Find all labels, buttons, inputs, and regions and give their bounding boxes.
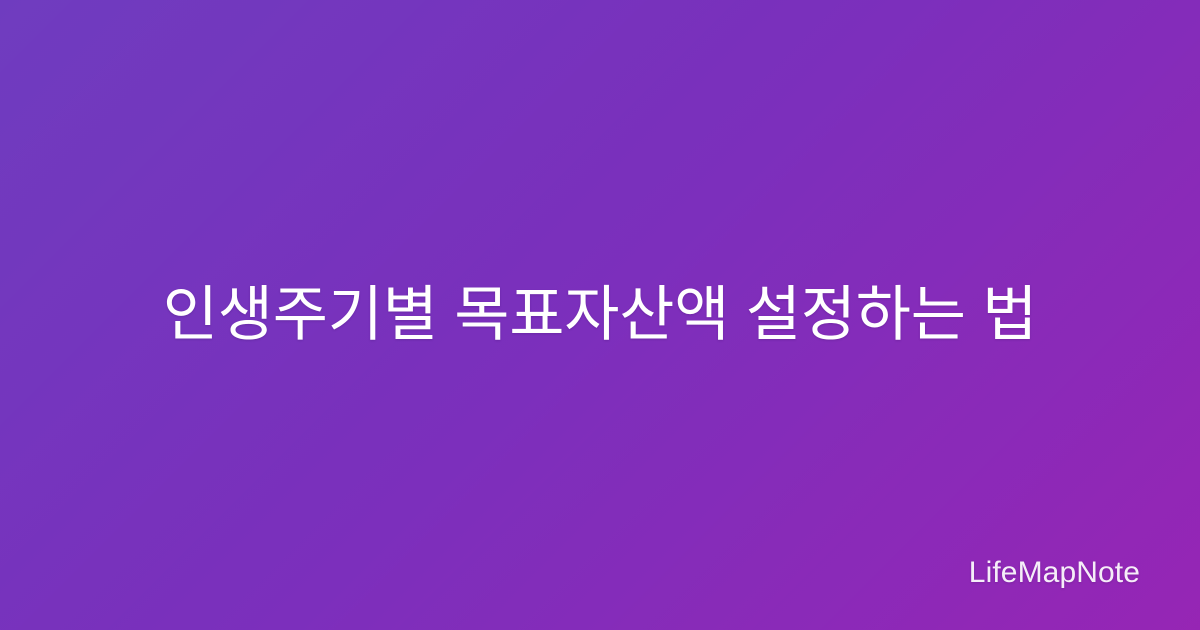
page-title: 인생주기별 목표자산액 설정하는 법 <box>0 275 1200 354</box>
og-card: 인생주기별 목표자산액 설정하는 법 LifeMapNote <box>0 0 1200 630</box>
card-content-area: 인생주기별 목표자산액 설정하는 법 <box>0 0 1200 630</box>
brand-watermark: LifeMapNote <box>969 558 1140 588</box>
